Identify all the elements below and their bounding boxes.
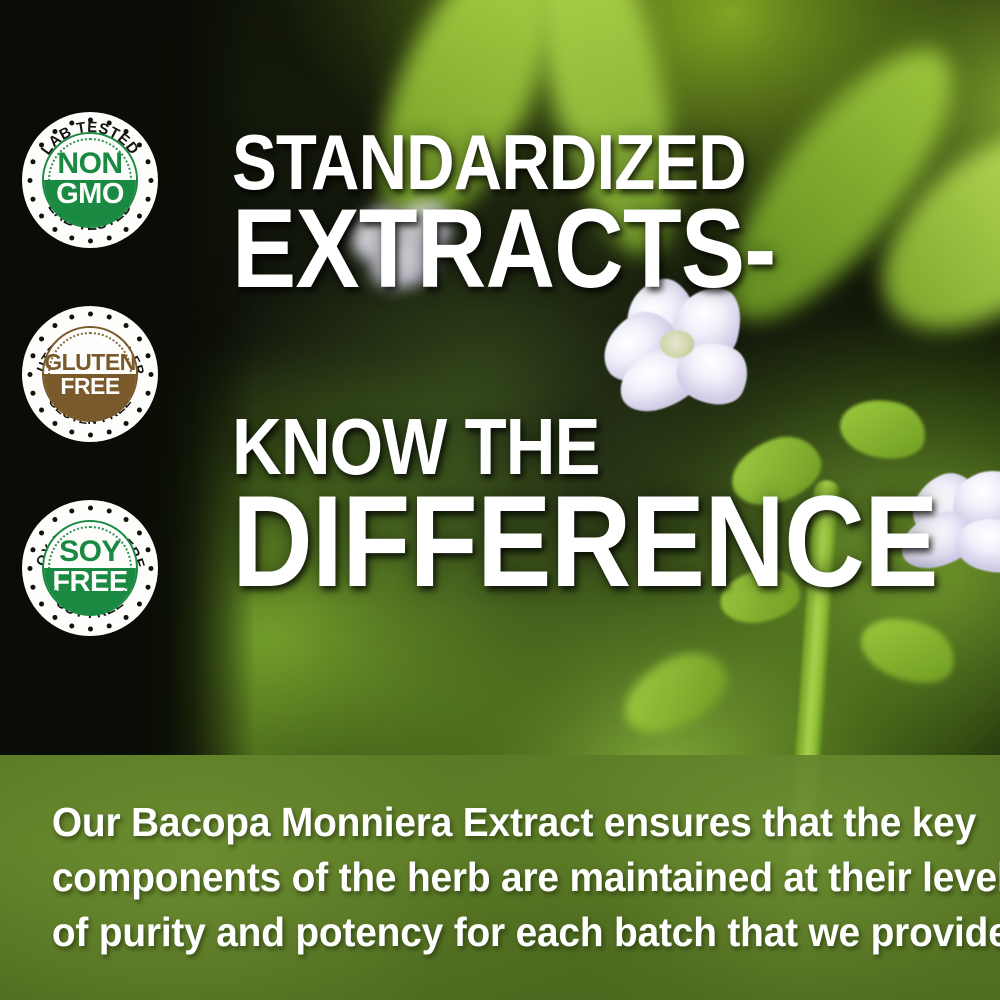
- badge-dot: [52, 420, 57, 425]
- badge-dot: [123, 614, 128, 619]
- caption-line-3: of purity and potency for each batch tha…: [52, 905, 908, 960]
- badge-dot: [88, 311, 93, 316]
- badge-dot: [30, 353, 35, 358]
- badge-dot: [27, 566, 32, 571]
- badge-dot: [145, 584, 150, 589]
- headline-line-extracts: EXTRACTS-: [232, 200, 775, 299]
- badge-dot: [69, 120, 74, 125]
- badge-dot: [39, 530, 44, 535]
- badge-dot: [136, 601, 141, 606]
- badge-dot: [148, 178, 153, 183]
- badge-dot: [69, 508, 74, 513]
- badge-dot: [39, 601, 44, 606]
- certification-badge-group: LAB TESTED LAB TESTED NON GMO GLUTEN-: [22, 112, 172, 636]
- badge-dot: [88, 505, 93, 510]
- badge-inner-disc: NON GMO: [42, 132, 138, 228]
- badge-line1: GLUTEN: [44, 351, 136, 373]
- headline-line-difference: DIFFERENCE: [232, 484, 938, 598]
- badge-dot: [145, 390, 150, 395]
- badge-dot: [30, 390, 35, 395]
- badge-dot: [52, 323, 57, 328]
- badge-dot: [145, 547, 150, 552]
- badge-line2: FREE: [60, 375, 119, 397]
- badge-dot: [136, 530, 141, 535]
- badge-dot: [52, 517, 57, 522]
- badge-dot: [136, 213, 141, 218]
- badge-dot: [30, 196, 35, 201]
- badge-dot: [106, 429, 111, 434]
- badge-inner-disc: GLUTEN FREE: [42, 326, 138, 422]
- badge-dot: [39, 336, 44, 341]
- badge-dot: [106, 314, 111, 319]
- badge-dot: [148, 372, 153, 377]
- badge-dot: [123, 226, 128, 231]
- badge-dot: [106, 235, 111, 240]
- badge-dot: [136, 336, 141, 341]
- badge-dot: [69, 623, 74, 628]
- badge-line1: NON: [57, 150, 122, 179]
- caption-line-2: components of the herb are maintained at…: [52, 850, 908, 905]
- badge-dot: [30, 584, 35, 589]
- badge-dot: [136, 142, 141, 147]
- badge-dot: [27, 178, 32, 183]
- badge-dot: [136, 407, 141, 412]
- badge-dot: [106, 120, 111, 125]
- badge-dot: [145, 159, 150, 164]
- badge-dot: [39, 142, 44, 147]
- badge-dot: [52, 614, 57, 619]
- badge-dot: [30, 547, 35, 552]
- badge-dot: [88, 117, 93, 122]
- badge-dot: [145, 353, 150, 358]
- badge-dot: [52, 129, 57, 134]
- caption-line-1: Our Bacopa Monniera Extract ensures that…: [52, 795, 908, 850]
- badge-non-gmo: LAB TESTED LAB TESTED NON GMO: [22, 112, 158, 248]
- caption-bar: Our Bacopa Monniera Extract ensures that…: [0, 755, 1000, 1000]
- badge-dot: [69, 429, 74, 434]
- badge-dot: [39, 407, 44, 412]
- badge-inner-disc: SOY FREE: [42, 520, 138, 616]
- badge-dot: [88, 432, 93, 437]
- badge-line2: FREE: [52, 569, 127, 597]
- badge-dot: [88, 238, 93, 243]
- badge-dot: [148, 566, 153, 571]
- badge-dot: [52, 226, 57, 231]
- badge-dot: [123, 420, 128, 425]
- badge-dot: [145, 196, 150, 201]
- badge-dot: [123, 323, 128, 328]
- badge-dot: [39, 213, 44, 218]
- badge-dot: [123, 517, 128, 522]
- badge-dot: [88, 626, 93, 631]
- badge-dot: [106, 508, 111, 513]
- badge-gluten-free: GLUTEN-FREE GLUTEN-FREE GLUTEN-FREE GLUT…: [22, 306, 158, 442]
- badge-dot: [106, 623, 111, 628]
- badge-dot: [27, 372, 32, 377]
- badge-dot: [123, 129, 128, 134]
- marketing-banner: LAB TESTED LAB TESTED NON GMO GLUTEN-: [0, 0, 1000, 1000]
- caption-paragraph: Our Bacopa Monniera Extract ensures that…: [0, 755, 960, 960]
- badge-dot: [30, 159, 35, 164]
- badge-dot: [69, 235, 74, 240]
- badge-soy-free: SOY-FREE SOY-FREE SOY-FREE SOY FREE: [22, 500, 158, 636]
- badge-dot: [69, 314, 74, 319]
- badge-line1: SOY: [59, 538, 121, 567]
- badge-line2: GMO: [56, 181, 124, 209]
